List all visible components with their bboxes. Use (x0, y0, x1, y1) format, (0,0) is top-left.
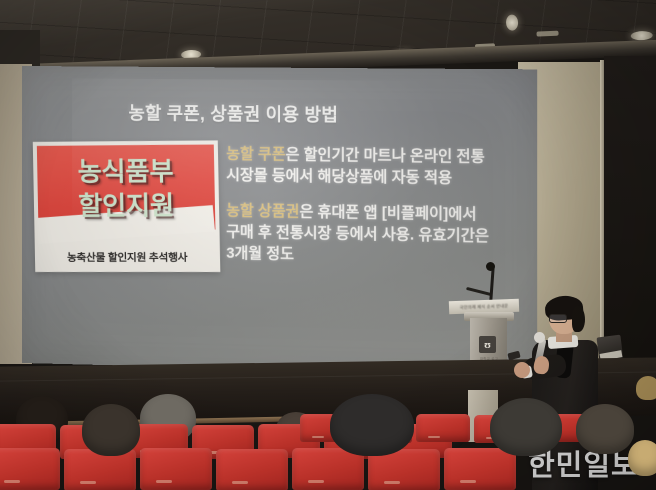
audience-front (0, 0, 656, 490)
head-light-right (628, 440, 656, 476)
photo-canvas: 농할 쿠폰, 상품권 이용 방법 농식품부 할인지원 농축산물 할인지원 추석행… (0, 0, 656, 490)
head-balding-front (490, 398, 562, 456)
head-right-rear (576, 404, 634, 454)
head-bun-woman (82, 404, 140, 456)
head-nike-cap (330, 394, 414, 456)
